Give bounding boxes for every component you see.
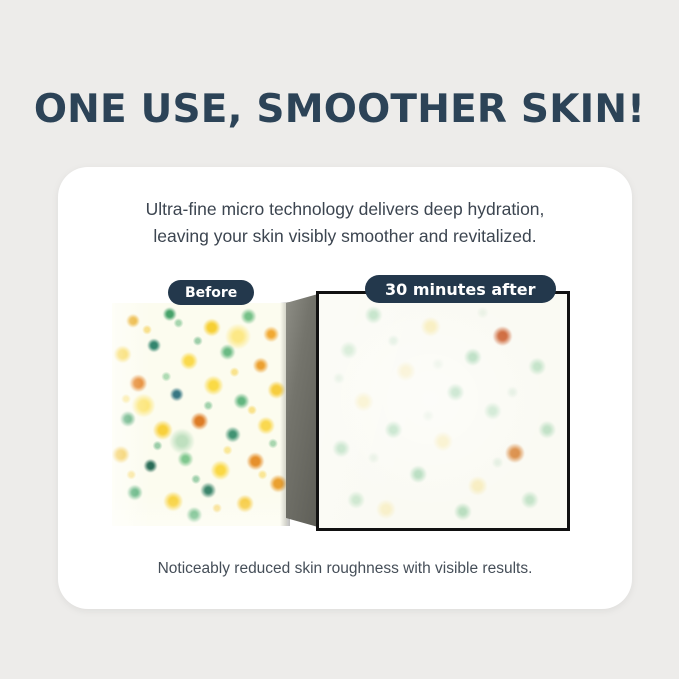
promo-page: ONE USE, SMOOTHER SKIN! Ultra-fine micro… [0, 0, 679, 679]
content-card: Ultra-fine micro technology delivers dee… [58, 167, 632, 609]
after-badge: 30 minutes after [365, 275, 556, 303]
result-caption: Noticeably reduced skin roughness with v… [58, 560, 632, 578]
after-image [316, 291, 570, 531]
before-edge-fade [112, 303, 287, 526]
before-after-comparison: Before 30 minutes after [58, 275, 632, 540]
before-image [112, 303, 287, 526]
page-title: ONE USE, SMOOTHER SKIN! [0, 89, 679, 132]
intro-line-1: Ultra-fine micro technology delivers dee… [58, 196, 632, 223]
after-sheen-overlay [319, 294, 567, 528]
intro-line-2: leaving your skin visibly smoother and r… [58, 223, 632, 250]
intro-text: Ultra-fine micro technology delivers dee… [58, 196, 632, 250]
perspective-divider [286, 294, 318, 527]
before-badge: Before [168, 280, 254, 305]
